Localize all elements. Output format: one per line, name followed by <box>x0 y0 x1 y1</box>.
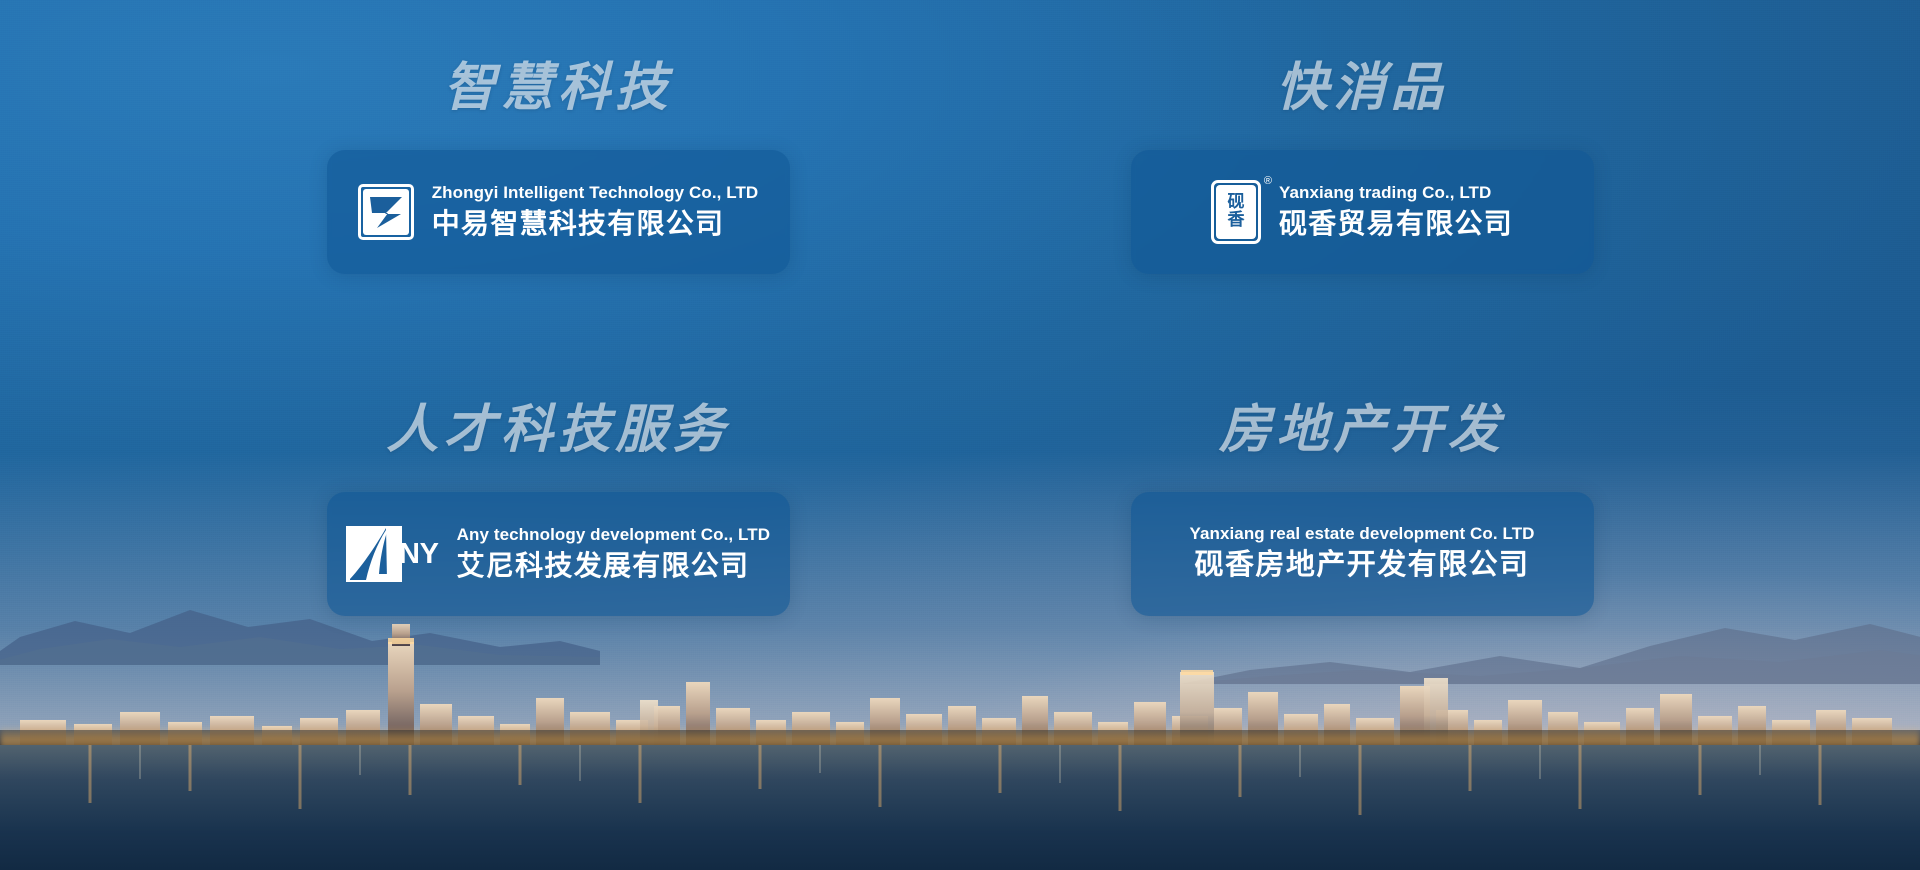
company-name-cn-yanxiang-trading: 砚香贸易有限公司 <box>1279 206 1513 242</box>
company-name-en-yanxiang-real-estate: Yanxiang real estate development Co. LTD <box>1189 523 1534 544</box>
seal-char-xiang: 香 <box>1227 212 1244 230</box>
segment-heading-talent-tech-services: 人才科技服务 <box>386 404 729 456</box>
segment-fmcg: 快消品 砚 香 ® Yanxiang <box>1039 62 1685 382</box>
company-card-zhongyi[interactable]: Zhongyi Intelligent Technology Co., LTD … <box>327 150 790 274</box>
registered-trademark-icon: ® <box>1264 176 1272 187</box>
company-name-cn-zhongyi: 中易智慧科技有限公司 <box>432 206 759 242</box>
segment-talent-tech-services: 人才科技服务 NY Any t <box>235 382 881 702</box>
company-names-yanxiang-real-estate: Yanxiang real estate development Co. LTD… <box>1189 523 1534 585</box>
yanxiang-seal-logo-icon: 砚 香 ® <box>1211 180 1261 244</box>
company-names-zhongyi: Zhongyi Intelligent Technology Co., LTD … <box>432 182 759 243</box>
company-name-cn-any-technology: 艾尼科技发展有限公司 <box>457 548 770 584</box>
company-name-cn-yanxiang-real-estate: 砚香房地产开发有限公司 <box>1195 547 1530 585</box>
company-name-en-any-technology: Any technology development Co., LTD <box>457 524 770 545</box>
company-card-yanxiang-trading[interactable]: 砚 香 ® Yanxiang trading Co., LTD 砚香贸易有限公司 <box>1131 150 1594 274</box>
zhongyi-z-stamp-logo-icon <box>358 184 414 240</box>
segments-grid: 智慧科技 Zhongyi Intelligent Technology Co.,… <box>0 0 1920 870</box>
company-card-yanxiang-real-estate[interactable]: Yanxiang real estate development Co. LTD… <box>1131 492 1594 616</box>
banner-stage: 智慧科技 Zhongyi Intelligent Technology Co.,… <box>0 0 1920 870</box>
company-names-any-technology: Any technology development Co., LTD 艾尼科技… <box>457 524 770 585</box>
any-logo-text: NY <box>399 538 439 571</box>
segment-heading-fmcg: 快消品 <box>1276 62 1448 114</box>
segment-heading-smart-technology: 智慧科技 <box>444 62 673 114</box>
any-mountain-logo-icon: NY <box>346 526 439 582</box>
company-name-en-yanxiang-trading: Yanxiang trading Co., LTD <box>1279 182 1513 203</box>
company-card-any-technology[interactable]: NY Any technology development Co., LTD 艾… <box>327 492 790 616</box>
company-name-en-zhongyi: Zhongyi Intelligent Technology Co., LTD <box>432 182 759 203</box>
segment-heading-real-estate: 房地产开发 <box>1219 404 1505 456</box>
company-names-yanxiang-trading: Yanxiang trading Co., LTD 砚香贸易有限公司 <box>1279 182 1513 243</box>
segment-smart-technology: 智慧科技 Zhongyi Intelligent Technology Co.,… <box>235 62 881 382</box>
segment-real-estate: 房地产开发 Yanxiang real estate development C… <box>1039 382 1685 702</box>
